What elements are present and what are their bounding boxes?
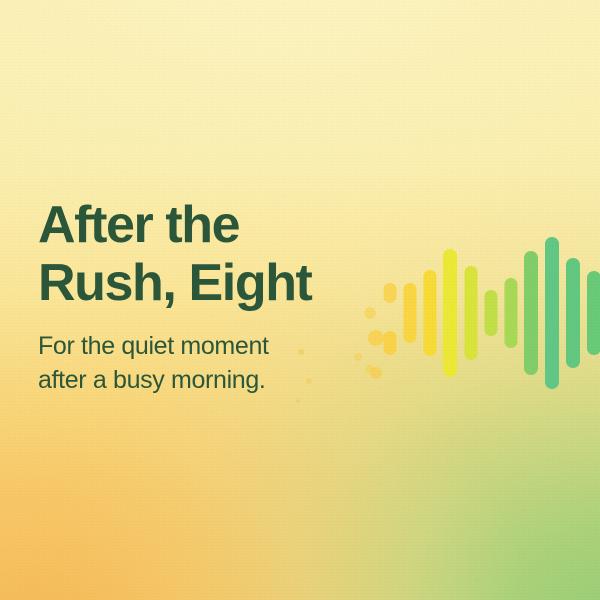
- cover-text-block: After the Rush, Eight For the quiet mome…: [38, 196, 378, 397]
- podcast-cover-art: After the Rush, Eight For the quiet mome…: [0, 0, 600, 600]
- cover-subtitle: For the quiet moment after a busy mornin…: [38, 330, 378, 397]
- cover-title: After the Rush, Eight: [38, 196, 378, 312]
